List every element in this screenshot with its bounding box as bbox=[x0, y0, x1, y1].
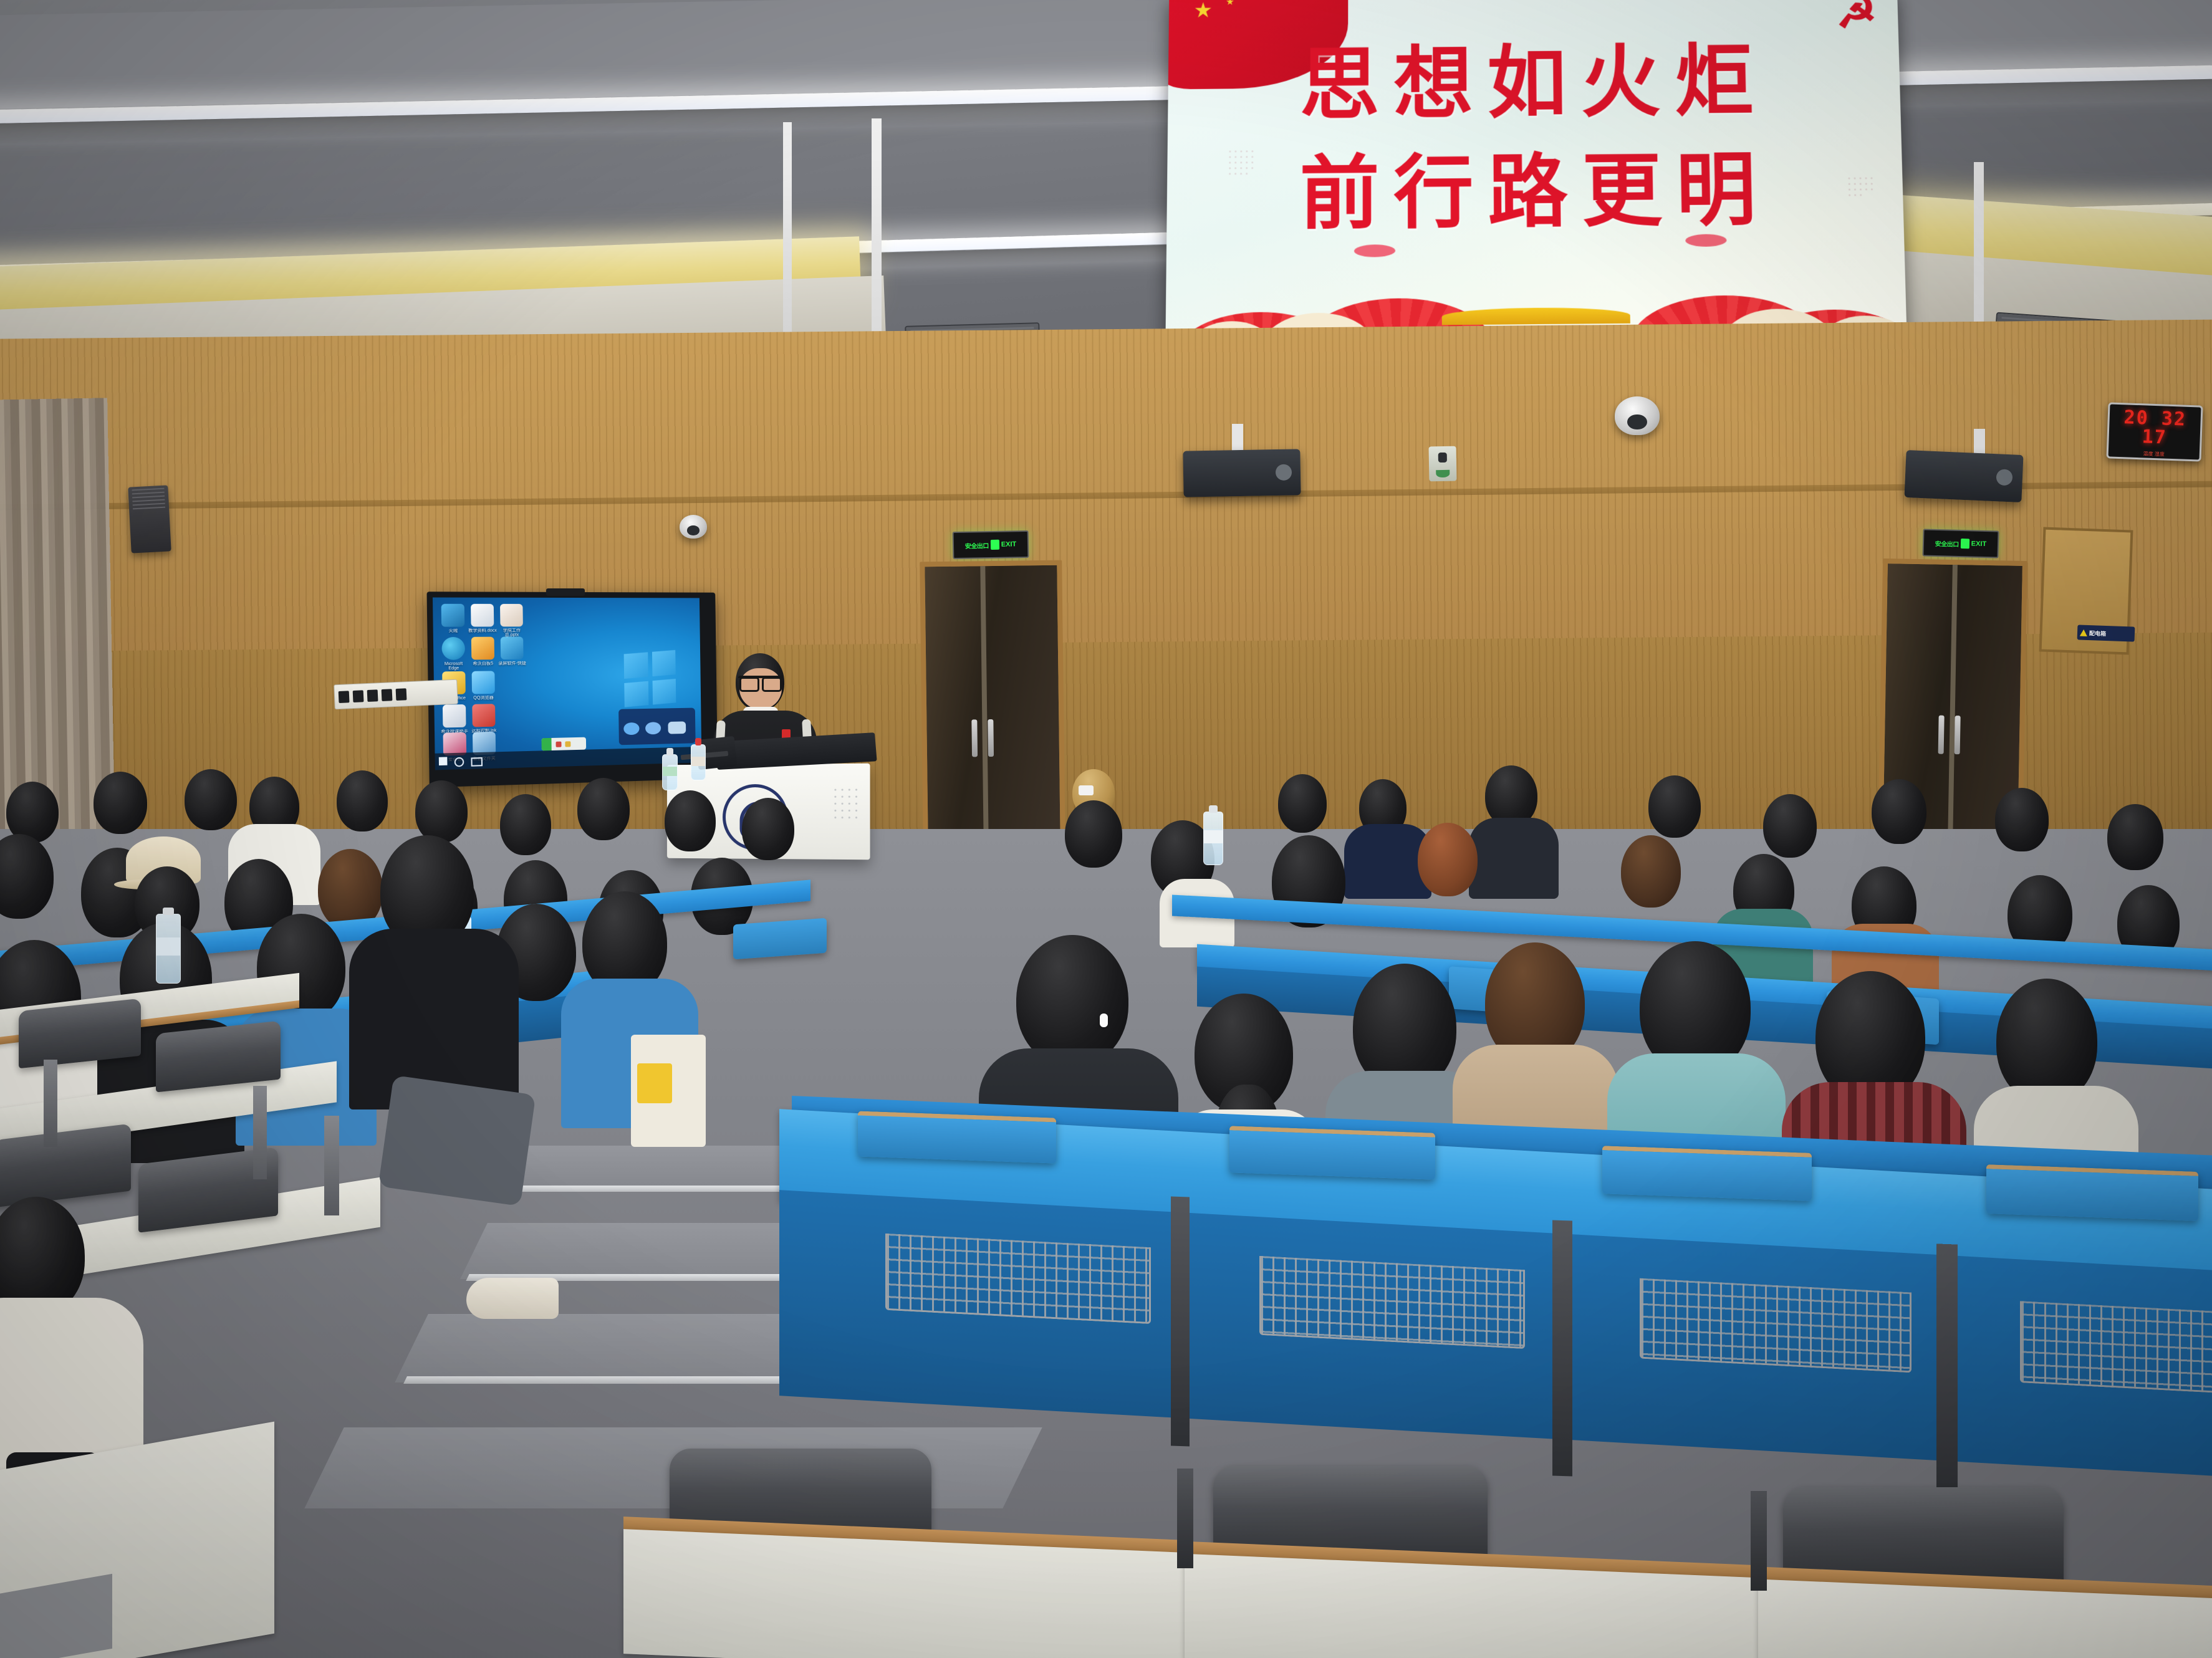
clock-sub-readout: 温度 湿度 bbox=[2109, 449, 2200, 459]
desktop-icon[interactable]: QQ浏览器 bbox=[468, 671, 498, 706]
warning-triangle-icon bbox=[2080, 629, 2087, 636]
dome-security-camera bbox=[1615, 396, 1660, 435]
projector-right bbox=[1904, 450, 2023, 502]
foreground-seatback-3[interactable] bbox=[1602, 1146, 1812, 1201]
dome-security-camera-left bbox=[680, 515, 707, 539]
student-head bbox=[742, 798, 794, 860]
door-handle[interactable] bbox=[971, 720, 978, 757]
windows-desktop[interactable]: 火绒 教学资料.docx 学院工作总.pptx Microsoft Edge 希… bbox=[433, 597, 701, 770]
screen-drop-rod bbox=[783, 122, 792, 365]
shoe-clog bbox=[466, 1278, 559, 1319]
windows-logo bbox=[624, 650, 676, 707]
desk-divider-post-2 bbox=[1552, 1220, 1572, 1476]
student-head bbox=[1648, 775, 1701, 838]
student-seated-left-bag bbox=[555, 891, 717, 1153]
water-bottle-center bbox=[1203, 812, 1223, 865]
foreground-seatback-4[interactable] bbox=[1986, 1164, 2198, 1221]
tote-bag-accent bbox=[637, 1063, 672, 1103]
running-person-icon bbox=[1961, 539, 1969, 549]
student-head bbox=[1016, 935, 1128, 1066]
floating-toolbar[interactable] bbox=[541, 737, 586, 751]
wall-led-clock: 20 32 17 温度 湿度 bbox=[2106, 402, 2203, 461]
student-head bbox=[1621, 835, 1681, 908]
running-person-icon bbox=[991, 540, 999, 550]
exit-sign-right: 安全出口 EXIT bbox=[1922, 529, 1999, 558]
desk-support-post-left-2 bbox=[253, 1086, 267, 1179]
sidebar-tool-panel[interactable] bbox=[618, 708, 695, 745]
desk-storage-basket-4 bbox=[2020, 1301, 2212, 1394]
flag-star-small: ★ bbox=[1226, 0, 1234, 7]
projector-front bbox=[1183, 449, 1301, 497]
student-head bbox=[185, 769, 237, 830]
door-handle[interactable] bbox=[1938, 716, 1945, 754]
foreground-seatback-2[interactable] bbox=[1229, 1126, 1435, 1180]
airpod-earbud bbox=[1100, 1013, 1108, 1027]
student-head bbox=[337, 770, 388, 831]
hair-clip bbox=[1079, 785, 1094, 795]
water-bottle-left-desk bbox=[156, 914, 181, 984]
whiteboard-camera-bar bbox=[546, 588, 585, 596]
student-head bbox=[1763, 794, 1817, 858]
desk-divider-post-1 bbox=[1171, 1196, 1190, 1446]
wall-speaker bbox=[128, 485, 171, 553]
lecture-hall-photo: ★ ★ ☭ 思想如火炬 前行路更明 bbox=[0, 0, 2212, 1658]
student-head bbox=[415, 780, 468, 843]
student-head bbox=[1996, 979, 2097, 1103]
start-button-icon[interactable] bbox=[439, 757, 448, 765]
student-head bbox=[1872, 779, 1926, 844]
desk-divider-post-3 bbox=[1936, 1243, 1958, 1506]
overhead-banner-line2: 前行路更明 bbox=[1166, 124, 1904, 246]
clock-time-readout: 20 32 17 bbox=[2109, 408, 2201, 448]
desktop-icon[interactable]: 火绒 bbox=[438, 604, 468, 639]
desk-storage-basket-1 bbox=[885, 1234, 1151, 1324]
student-head bbox=[1995, 788, 2049, 851]
student-legs bbox=[378, 1075, 536, 1206]
student-head bbox=[665, 790, 716, 851]
desk-storage-basket-3 bbox=[1640, 1278, 1911, 1373]
student-head bbox=[94, 772, 147, 834]
flag-star-large: ★ bbox=[1194, 0, 1213, 21]
student-seated-left-mid bbox=[324, 835, 586, 1184]
overhead-banner-line1: 思想如火炬 bbox=[1168, 16, 1901, 137]
task-view-icon[interactable] bbox=[471, 757, 483, 767]
search-icon[interactable] bbox=[454, 757, 464, 767]
desktop-icon[interactable]: 录屏软件-快捷 bbox=[498, 636, 527, 671]
door-handle[interactable] bbox=[988, 719, 994, 757]
front-row-divider-post-1 bbox=[1177, 1469, 1193, 1568]
desk-storage-basket-2 bbox=[1259, 1256, 1525, 1349]
exit-sign-left: 安全出口 EXIT bbox=[953, 530, 1029, 559]
door-handle[interactable] bbox=[1955, 716, 1961, 754]
electrical-box-warning-sign: 配电箱 bbox=[2077, 625, 2135, 641]
student-head bbox=[2107, 804, 2163, 870]
desktop-icon[interactable]: 学院工作总.pptx bbox=[497, 604, 526, 639]
student-head bbox=[6, 782, 59, 843]
student-head bbox=[577, 778, 630, 840]
desk-support-post-left-1 bbox=[44, 1060, 57, 1147]
desktop-icon[interactable]: Microsoft Edge bbox=[438, 637, 468, 673]
presenter-glasses-lens-left bbox=[739, 677, 759, 692]
student-head bbox=[1418, 823, 1478, 896]
student-head bbox=[1278, 774, 1327, 833]
desktop-icon[interactable]: 教学资料.docx bbox=[468, 604, 498, 639]
student-body bbox=[1469, 818, 1559, 899]
foreground-seatback-1[interactable] bbox=[858, 1111, 1056, 1163]
desktop-icon[interactable]: 希沃白板5 bbox=[468, 637, 498, 672]
presenter-glasses-lens-right bbox=[762, 677, 782, 692]
podium-speaker-grille bbox=[832, 786, 860, 830]
seat-blue-1[interactable] bbox=[733, 918, 827, 959]
student-head bbox=[1065, 800, 1122, 868]
front-row-divider-post-2 bbox=[1751, 1491, 1767, 1591]
wall-mounted-camera bbox=[1429, 446, 1457, 482]
